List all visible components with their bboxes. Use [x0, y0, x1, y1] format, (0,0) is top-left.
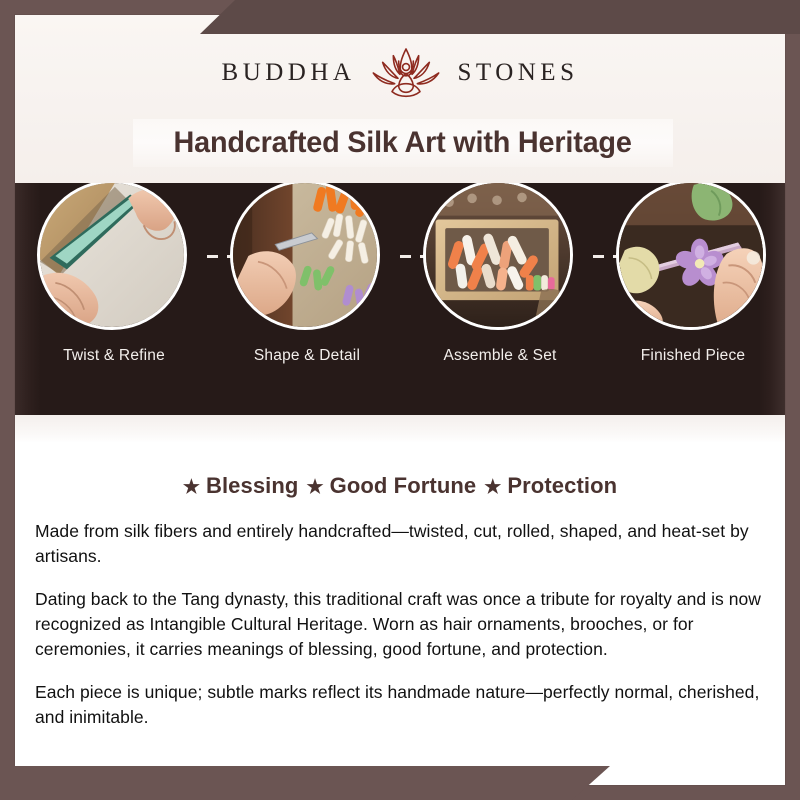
poster-card: BUDDHA — [15, 15, 785, 785]
step-2-label: Shape & Detail — [230, 347, 384, 365]
benefit-1: Blessing — [206, 473, 299, 498]
benefit-2: Good Fortune — [330, 473, 477, 498]
process-steps-row: Twist & Refine — [15, 183, 785, 415]
step-3-photo — [423, 183, 573, 330]
benefits-line: ★Blessing★Good Fortune★Protection — [15, 415, 785, 499]
step-3-label: Assemble & Set — [423, 347, 577, 365]
page-title: Handcrafted Silk Art with Heritage — [174, 126, 632, 160]
description-paragraph-1: Made from silk fibers and entirely handc… — [35, 519, 765, 569]
step-2-photo — [230, 183, 380, 330]
description-paragraph-2: Dating back to the Tang dynasty, this tr… — [35, 587, 765, 662]
process-step-3: Assemble & Set — [423, 183, 577, 365]
step-4-photo — [616, 183, 766, 330]
star-icon-1: ★ — [183, 477, 200, 498]
step-1-photo — [37, 183, 187, 330]
header: BUDDHA — [15, 15, 785, 183]
star-icon-3: ★ — [484, 477, 501, 498]
description-paragraph-3: Each piece is unique; subtle marks refle… — [35, 680, 765, 730]
poster-root: BUDDHA — [0, 0, 800, 800]
step-4-label: Finished Piece — [616, 347, 770, 365]
brand-word-right: STONES — [457, 59, 578, 87]
step-1-label: Twist & Refine — [37, 347, 191, 365]
benefit-3: Protection — [507, 473, 617, 498]
lotus-meditation-icon — [369, 45, 443, 101]
process-step-4: Finished Piece — [616, 183, 770, 365]
star-icon-2: ★ — [306, 477, 323, 498]
brand-word-left: BUDDHA — [222, 59, 356, 87]
title-banner: Handcrafted Silk Art with Heritage — [133, 119, 673, 167]
description-section: ★Blessing★Good Fortune★Protection Made f… — [15, 415, 785, 785]
process-step-1: Twist & Refine — [37, 183, 191, 365]
process-step-2: Shape & Detail — [230, 183, 384, 365]
description-paragraphs: Made from silk fibers and entirely handc… — [15, 499, 785, 730]
process-steps-band: Twist & Refine — [15, 183, 785, 415]
